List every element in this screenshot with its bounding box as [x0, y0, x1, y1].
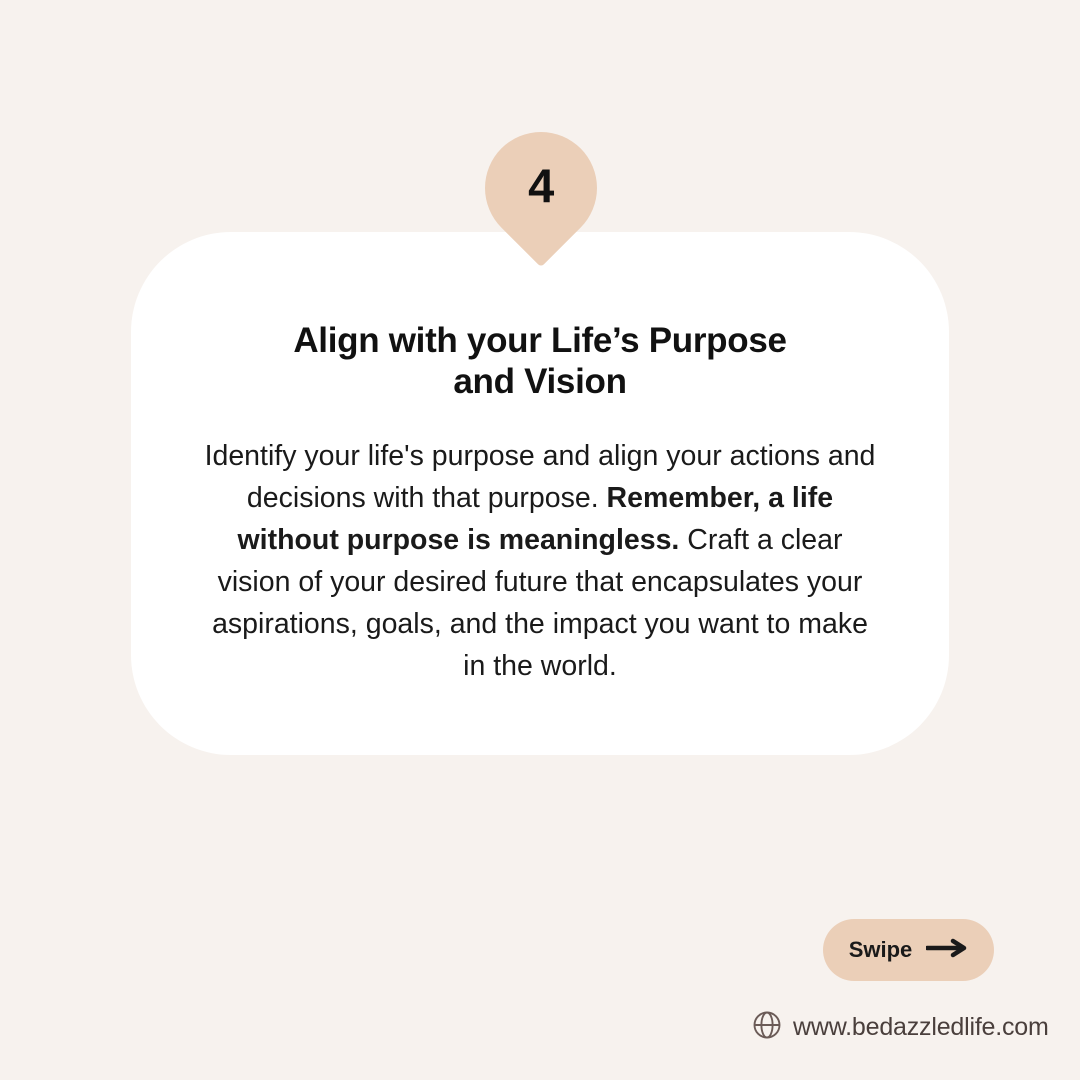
page-title: Align with your Life’s Purpose and Visio… — [203, 320, 877, 403]
globe-icon — [752, 1010, 782, 1045]
site-url: www.bedazzledlife.com — [793, 1013, 1049, 1042]
heading-line-2: and Vision — [453, 362, 626, 401]
step-number: 4 — [485, 132, 597, 244]
swipe-button[interactable]: Swipe — [823, 919, 994, 981]
swipe-button-label: Swipe — [849, 937, 913, 963]
site-footer: www.bedazzledlife.com — [752, 1010, 1049, 1045]
arrow-right-icon — [926, 938, 968, 963]
body-text: Identify your life's purpose and align y… — [203, 435, 877, 688]
content-card: Align with your Life’s Purpose and Visio… — [131, 232, 949, 755]
heading-line-1: Align with your Life’s Purpose — [293, 321, 786, 360]
